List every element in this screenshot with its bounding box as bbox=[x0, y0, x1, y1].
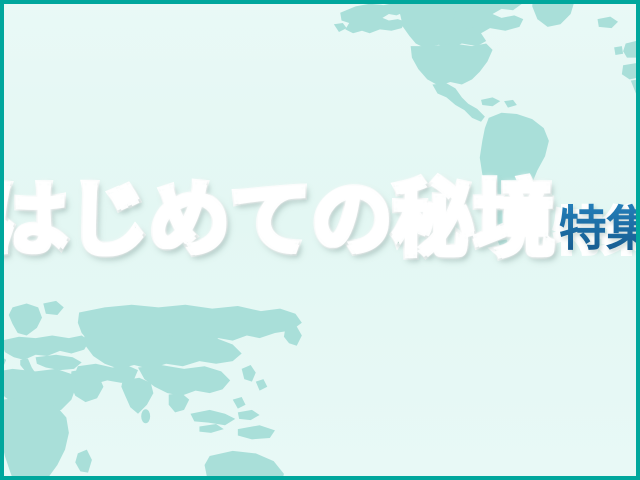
headline-sub-text: 特集 bbox=[559, 201, 640, 257]
headline-sub-wrap: 特集 特集 bbox=[555, 208, 640, 256]
world-map-landmasses-2 bbox=[0, 278, 316, 480]
headline-block: はじめての秘境 はじめての秘境 特集 特集 bbox=[0, 158, 640, 262]
world-map-svg-2 bbox=[0, 274, 330, 480]
world-map-graphic-bottom bbox=[0, 274, 330, 480]
headline-inner: はじめての秘境 はじめての秘境 特集 特集 bbox=[0, 180, 640, 262]
travel-feature-banner: はじめての秘境 はじめての秘境 特集 特集 bbox=[0, 0, 640, 480]
headline-main-text: はじめての秘境 bbox=[0, 173, 555, 268]
headline-main-wrap: はじめての秘境 はじめての秘境 bbox=[0, 180, 555, 262]
